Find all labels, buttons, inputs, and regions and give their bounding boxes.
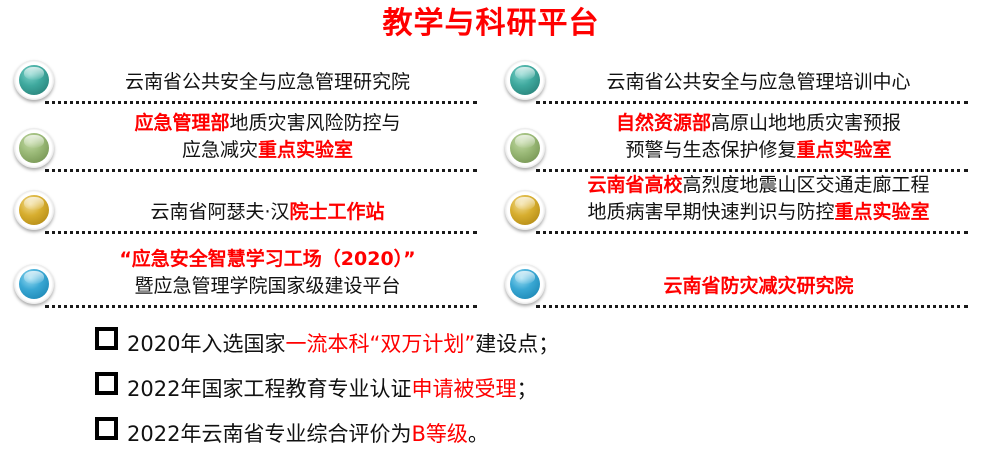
highlight-text: 一流本科“双万计划” bbox=[285, 332, 475, 356]
list-item: 2020年入选国家一流本科“双万计划”建设点； bbox=[95, 322, 795, 367]
platform-item-line: 云南省公共安全与应急管理研究院 bbox=[60, 69, 475, 95]
highlight-text: 申请被受理 bbox=[411, 377, 516, 401]
green-sphere-icon bbox=[505, 128, 545, 168]
plain-text: 地质灾害风险防控与 bbox=[230, 112, 401, 134]
page-title: 教学与科研平台 bbox=[0, 4, 982, 44]
list-item: 2022年云南省专业综合评价为B等级。 bbox=[95, 412, 795, 457]
orb-gloss bbox=[510, 65, 540, 95]
platform-column-left: 云南省公共安全与应急管理研究院应急管理部地质灾害风险防控与应急减灾重点实验室云南… bbox=[0, 52, 491, 314]
gold-sphere-icon bbox=[14, 190, 54, 230]
plain-text: 地质病害早期快速判识与防控 bbox=[587, 201, 834, 223]
dotted-divider bbox=[45, 302, 477, 308]
orb-gloss bbox=[510, 195, 540, 225]
orb-gloss bbox=[19, 195, 49, 225]
platform-item-label: “应急安全智慧学习工场（2020）”暨应急管理学院国家级建设平台 bbox=[60, 246, 475, 300]
platform-item-line: 应急减灾重点实验室 bbox=[60, 137, 475, 164]
highlight-text: “应急安全智慧学习工场（2020）” bbox=[119, 248, 415, 270]
platform-item[interactable]: 云南省防灾减灾研究院 bbox=[501, 234, 972, 308]
orb-gloss bbox=[510, 269, 540, 299]
platform-item-line: 云南省阿瑟夫·汉院士工作站 bbox=[60, 199, 475, 225]
platform-item[interactable]: 应急管理部地质灾害风险防控与应急减灾重点实验室 bbox=[10, 104, 481, 172]
platform-item-line: 地质病害早期快速判识与防控重点实验室 bbox=[551, 199, 966, 226]
highlight-text: 重点实验室 bbox=[258, 139, 353, 161]
platform-grid: 云南省公共安全与应急管理研究院应急管理部地质灾害风险防控与应急减灾重点实验室云南… bbox=[0, 52, 982, 314]
plain-text: 。 bbox=[468, 422, 489, 446]
notes-list: 2020年入选国家一流本科“双万计划”建设点；2022年国家工程教育专业认证申请… bbox=[95, 322, 795, 457]
platform-item-label: 自然资源部高原山地地质灾害预报预警与生态保护修复重点实验室 bbox=[551, 110, 966, 164]
hollow-square-bullet bbox=[95, 417, 118, 440]
platform-item-line: 暨应急管理学院国家级建设平台 bbox=[60, 273, 475, 300]
platform-column-right: 云南省公共安全与应急管理培训中心自然资源部高原山地地质灾害预报预警与生态保护修复… bbox=[491, 52, 982, 314]
highlight-text: 云南省防灾减灾研究院 bbox=[663, 275, 853, 297]
plain-text: 云南省公共安全与应急管理培训中心 bbox=[606, 71, 910, 93]
list-item: 2022年国家工程教育专业认证申请被受理； bbox=[95, 367, 795, 412]
plain-text: 高烈度地震山区交通走廊工程 bbox=[683, 174, 930, 196]
platform-item[interactable]: “应急安全智慧学习工场（2020）”暨应急管理学院国家级建设平台 bbox=[10, 234, 481, 308]
platform-item[interactable]: 云南省阿瑟夫·汉院士工作站 bbox=[10, 172, 481, 234]
platform-item-label: 云南省高校高烈度地震山区交通走廊工程地质病害早期快速判识与防控重点实验室 bbox=[551, 172, 966, 226]
platform-item[interactable]: 云南省高校高烈度地震山区交通走廊工程地质病害早期快速判识与防控重点实验室 bbox=[501, 172, 972, 234]
platform-item[interactable]: 自然资源部高原山地地质灾害预报预警与生态保护修复重点实验室 bbox=[501, 104, 972, 172]
platform-item-line: 自然资源部高原山地地质灾害预报 bbox=[551, 110, 966, 137]
platform-item-line: 应急管理部地质灾害风险防控与 bbox=[60, 110, 475, 137]
plain-text: 云南省阿瑟夫·汉 bbox=[150, 201, 289, 223]
slide-root: 教学与科研平台 云南省公共安全与应急管理研究院应急管理部地质灾害风险防控与应急减… bbox=[0, 0, 982, 462]
plain-text: 云南省公共安全与应急管理研究院 bbox=[125, 71, 410, 93]
hollow-square-bullet bbox=[95, 372, 118, 395]
orb-gloss bbox=[19, 133, 49, 163]
plain-text: 预警与生态保护修复 bbox=[625, 139, 796, 161]
platform-item-label: 云南省公共安全与应急管理培训中心 bbox=[551, 69, 966, 95]
plain-text: 高原山地地质灾害预报 bbox=[711, 112, 901, 134]
plain-text: 2022年云南省专业综合评价为 bbox=[127, 422, 411, 446]
orb-gloss bbox=[510, 133, 540, 163]
platform-item-line: “应急安全智慧学习工场（2020）” bbox=[60, 246, 475, 273]
teal-sphere-icon bbox=[14, 60, 54, 100]
plain-text: 应急减灾 bbox=[182, 139, 258, 161]
hollow-square-bullet bbox=[95, 327, 118, 350]
platform-item-label: 云南省防灾减灾研究院 bbox=[551, 273, 966, 299]
highlight-text: 云南省高校 bbox=[587, 174, 682, 196]
dotted-divider bbox=[536, 302, 968, 308]
plain-text: 暨应急管理学院国家级建设平台 bbox=[134, 275, 400, 297]
platform-item-label: 云南省公共安全与应急管理研究院 bbox=[60, 69, 475, 95]
highlight-text: 应急管理部 bbox=[134, 112, 229, 134]
gold-sphere-icon bbox=[505, 190, 545, 230]
orb-gloss bbox=[19, 269, 49, 299]
highlight-text: B等级 bbox=[411, 422, 467, 446]
platform-item-line: 预警与生态保护修复重点实验室 bbox=[551, 137, 966, 164]
plain-text: ； bbox=[516, 377, 537, 401]
green-sphere-icon bbox=[14, 128, 54, 168]
orb-gloss bbox=[19, 65, 49, 95]
blue-sphere-icon bbox=[14, 264, 54, 304]
highlight-text: 院士工作站 bbox=[290, 201, 385, 223]
platform-item-line: 云南省公共安全与应急管理培训中心 bbox=[551, 69, 966, 95]
highlight-text: 重点实验室 bbox=[797, 139, 892, 161]
platform-item-line: 云南省高校高烈度地震山区交通走廊工程 bbox=[551, 172, 966, 199]
platform-item[interactable]: 云南省公共安全与应急管理研究院 bbox=[10, 52, 481, 104]
plain-text: 2020年入选国家 bbox=[127, 332, 285, 356]
teal-sphere-icon bbox=[505, 60, 545, 100]
highlight-text: 自然资源部 bbox=[616, 112, 711, 134]
platform-item-line: 云南省防灾减灾研究院 bbox=[551, 273, 966, 299]
highlight-text: 重点实验室 bbox=[835, 201, 930, 223]
plain-text: 2022年国家工程教育专业认证 bbox=[127, 377, 411, 401]
plain-text: 建设点； bbox=[475, 332, 559, 356]
blue-sphere-icon bbox=[505, 264, 545, 304]
platform-item[interactable]: 云南省公共安全与应急管理培训中心 bbox=[501, 52, 972, 104]
platform-item-label: 云南省阿瑟夫·汉院士工作站 bbox=[60, 199, 475, 225]
platform-item-label: 应急管理部地质灾害风险防控与应急减灾重点实验室 bbox=[60, 110, 475, 164]
